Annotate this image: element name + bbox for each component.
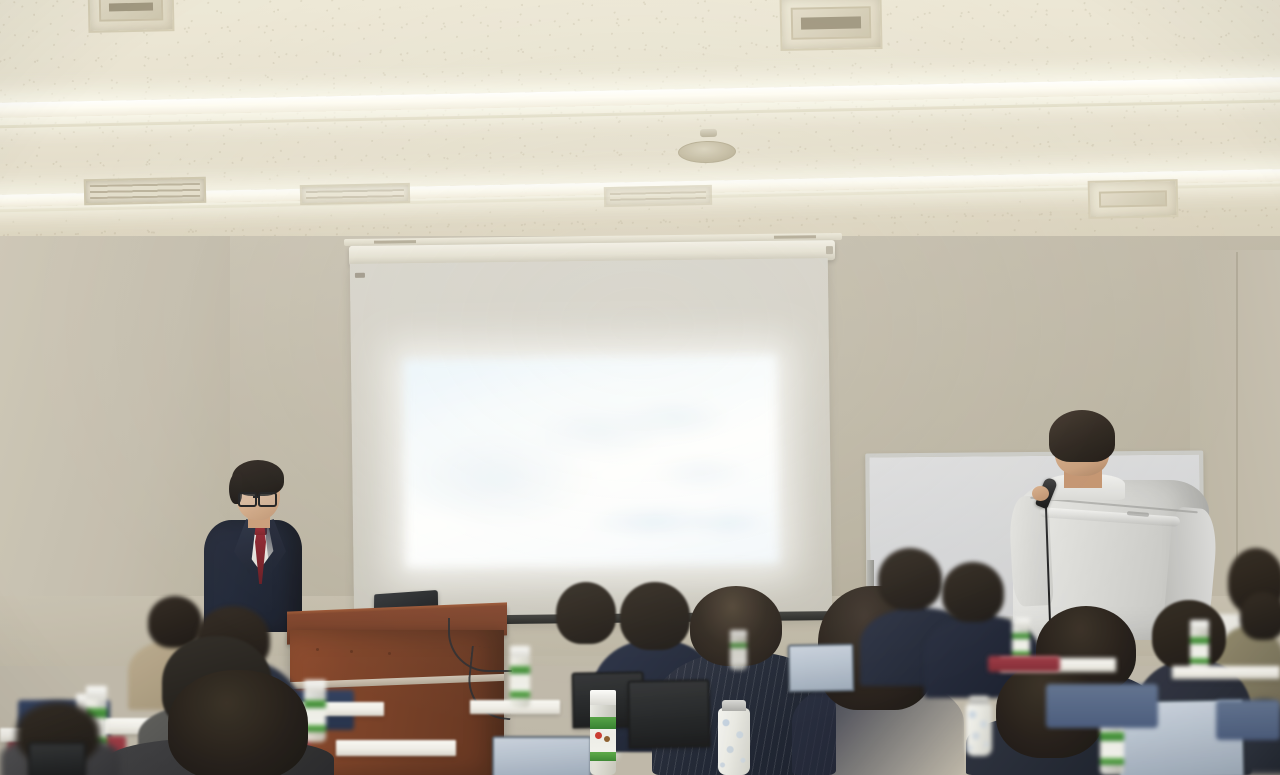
audience-laptop[interactable] (788, 643, 851, 688)
tea-bottle (590, 690, 616, 775)
smoke-detector-icon (700, 129, 717, 137)
wall-corner-edge (1236, 252, 1238, 582)
questioner-hand (1032, 486, 1049, 501)
eyeglasses-icon (238, 492, 257, 507)
audience-laptop[interactable] (627, 679, 706, 744)
floral-thermos (966, 696, 992, 756)
eyeglasses-bridge-icon (253, 496, 258, 498)
screen-pull-tab-icon (355, 273, 365, 278)
tea-bottle (730, 630, 747, 670)
linear-diffuser-center-icon (300, 183, 410, 205)
linear-diffuser-right-icon (604, 185, 712, 207)
ceiling (0, 0, 1280, 250)
audience-laptop[interactable] (492, 736, 588, 775)
conference-room-photo (0, 0, 1280, 775)
projection-screen (350, 258, 832, 626)
audience-laptop[interactable] (28, 742, 82, 775)
chair-blue (1216, 700, 1280, 740)
linear-diffuser-left-icon (84, 177, 206, 205)
square-diffuser-topcenter-icon (779, 0, 882, 51)
eyeglasses-icon (258, 492, 277, 507)
chair-red (988, 656, 1060, 672)
square-diffuser-topleft-icon (88, 0, 175, 33)
table (336, 740, 456, 756)
square-diffuser-right-icon (1088, 179, 1179, 219)
questioner-hair (1049, 410, 1115, 462)
tea-bottle (1190, 620, 1209, 672)
podium-screw-dots (316, 648, 436, 652)
tea-bottle (510, 646, 530, 708)
floral-thermos (718, 700, 750, 775)
table (1172, 666, 1280, 679)
chair-blue (1046, 684, 1158, 728)
projected-slide (403, 355, 780, 569)
